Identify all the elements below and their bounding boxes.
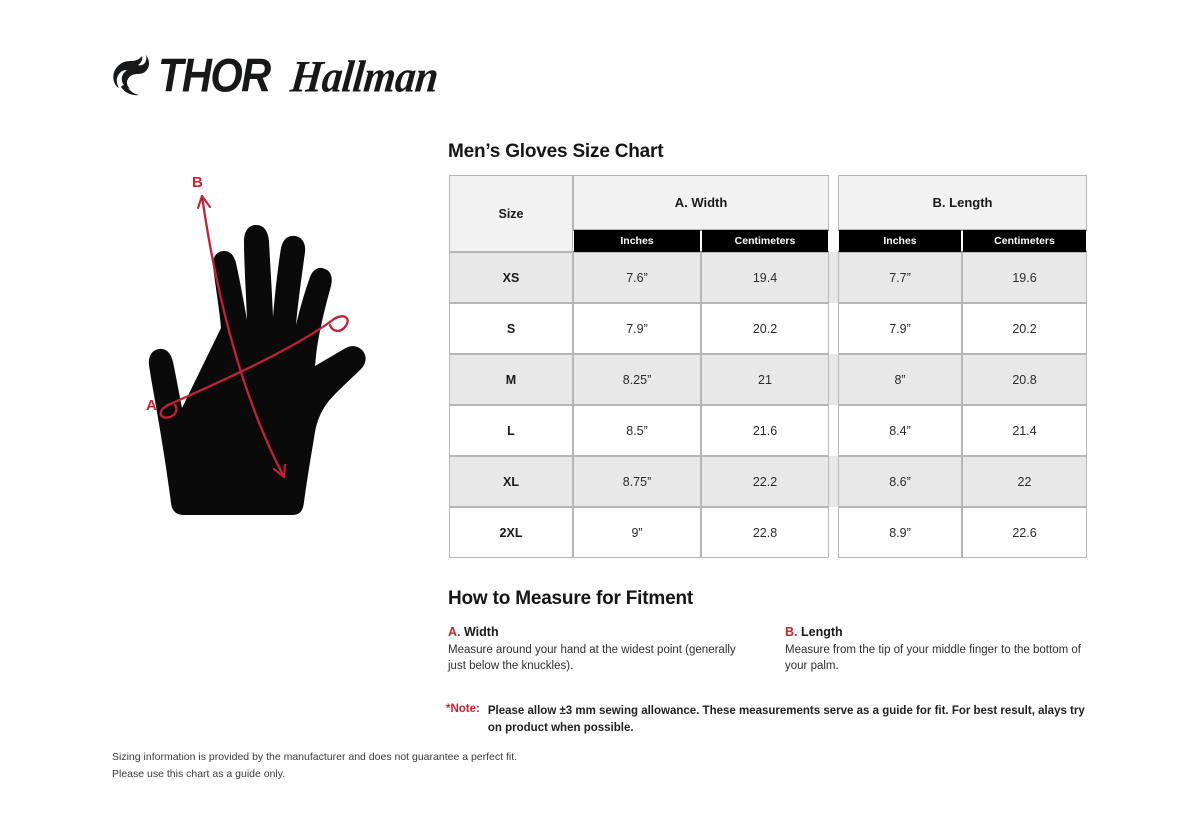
table-header-groups: Size A. Width B. Length [449,175,1087,230]
cell-size: M [449,354,573,405]
column-header-length-centimeters: Centimeters [962,230,1087,252]
cell-width-centimeters: 22.8 [701,507,829,558]
note-text: Please allow ±3 mm sewing allowance. The… [488,703,1091,736]
measure-width-name: Width [464,625,499,639]
cell-width-centimeters: 22.2 [701,456,829,507]
brand-logo-row: THOR Hallman [112,52,438,100]
cell-width-inches: 7.6” [573,252,701,303]
measure-length-text: Measure from the tip of your middle fing… [785,642,1088,675]
cell-length-centimeters: 20.2 [962,303,1087,354]
how-to-measure-section: A. Width Measure around your hand at the… [448,625,1088,675]
size-chart-table: Size A. Width B. Length Inches Centimete… [449,175,1087,558]
column-gap [829,354,838,405]
note-label: *Note: [446,703,480,736]
cell-width-centimeters: 21 [701,354,829,405]
table-row: XL 8.75” 22.2 8.6” 22 [449,456,1087,507]
cell-width-inches: 7.9” [573,303,701,354]
cell-length-inches: 8.6” [838,456,962,507]
cell-size: L [449,405,573,456]
cell-length-inches: 8” [838,354,962,405]
table-row: S 7.9” 20.2 7.9” 20.2 [449,303,1087,354]
cell-size: S [449,303,573,354]
measure-width-block: A. Width Measure around your hand at the… [448,625,751,675]
cell-width-centimeters: 19.4 [701,252,829,303]
thor-helmet-icon [112,53,156,99]
cell-length-centimeters: 21.4 [962,405,1087,456]
column-header-size: Size [449,175,573,252]
column-header-width-centimeters: Centimeters [701,230,829,252]
hallman-wordmark: Hallman [289,50,441,103]
column-gap [829,303,838,354]
cell-length-inches: 7.7” [838,252,962,303]
column-header-length-inches: Inches [838,230,962,252]
table-row: L 8.5” 21.6 8.4” 21.4 [449,405,1087,456]
hand-measurement-diagram: B A [118,160,438,560]
cell-length-centimeters: 19.6 [962,252,1087,303]
cell-size: XS [449,252,573,303]
table-row: 2XL 9” 22.8 8.9” 22.6 [449,507,1087,558]
cell-length-inches: 7.9” [838,303,962,354]
cell-size: XL [449,456,573,507]
cell-length-centimeters: 22 [962,456,1087,507]
column-gap [829,175,838,230]
note-section: *Note: Please allow ±3 mm sewing allowan… [446,703,1091,736]
thor-wordmark: THOR [158,49,270,102]
how-to-measure-title: How to Measure for Fitment [448,588,693,610]
cell-length-inches: 8.4” [838,405,962,456]
column-group-width: A. Width [573,175,829,230]
measure-length-heading: B. Length [785,625,1088,639]
cell-length-centimeters: 22.6 [962,507,1087,558]
column-gap [829,252,838,303]
column-group-length: B. Length [838,175,1087,230]
diagram-label-a: A [146,397,157,414]
disclaimer: Sizing information is provided by the ma… [112,749,517,783]
measure-length-block: B. Length Measure from the tip of your m… [785,625,1088,675]
cell-width-inches: 8.5” [573,405,701,456]
cell-length-inches: 8.9” [838,507,962,558]
table-row: XS 7.6” 19.4 7.7” 19.6 [449,252,1087,303]
column-gap [829,405,838,456]
measure-width-heading: A. Width [448,625,751,639]
diagram-label-b: B [192,174,203,191]
table-row: M 8.25” 21 8” 20.8 [449,354,1087,405]
hand-silhouette-icon [118,160,438,560]
measure-length-name: Length [801,625,843,639]
measure-width-text: Measure around your hand at the widest p… [448,642,751,675]
column-gap [829,507,838,558]
column-gap [829,230,838,252]
measure-width-letter: A. [448,625,461,639]
cell-width-inches: 8.25” [573,354,701,405]
cell-size: 2XL [449,507,573,558]
cell-width-inches: 9” [573,507,701,558]
measure-length-letter: B. [785,625,798,639]
size-chart-page: THOR Hallman B A Men’s Gloves Size Chart [0,0,1200,820]
cell-width-centimeters: 20.2 [701,303,829,354]
column-header-width-inches: Inches [573,230,701,252]
column-gap [829,456,838,507]
thor-logo: THOR [112,53,265,99]
cell-length-centimeters: 20.8 [962,354,1087,405]
size-chart-table-wrap: Size A. Width B. Length Inches Centimete… [449,175,1085,558]
page-title: Men’s Gloves Size Chart [448,141,663,163]
cell-width-inches: 8.75” [573,456,701,507]
cell-width-centimeters: 21.6 [701,405,829,456]
disclaimer-line-2: Please use this chart as a guide only. [112,766,517,783]
disclaimer-line-1: Sizing information is provided by the ma… [112,749,517,766]
